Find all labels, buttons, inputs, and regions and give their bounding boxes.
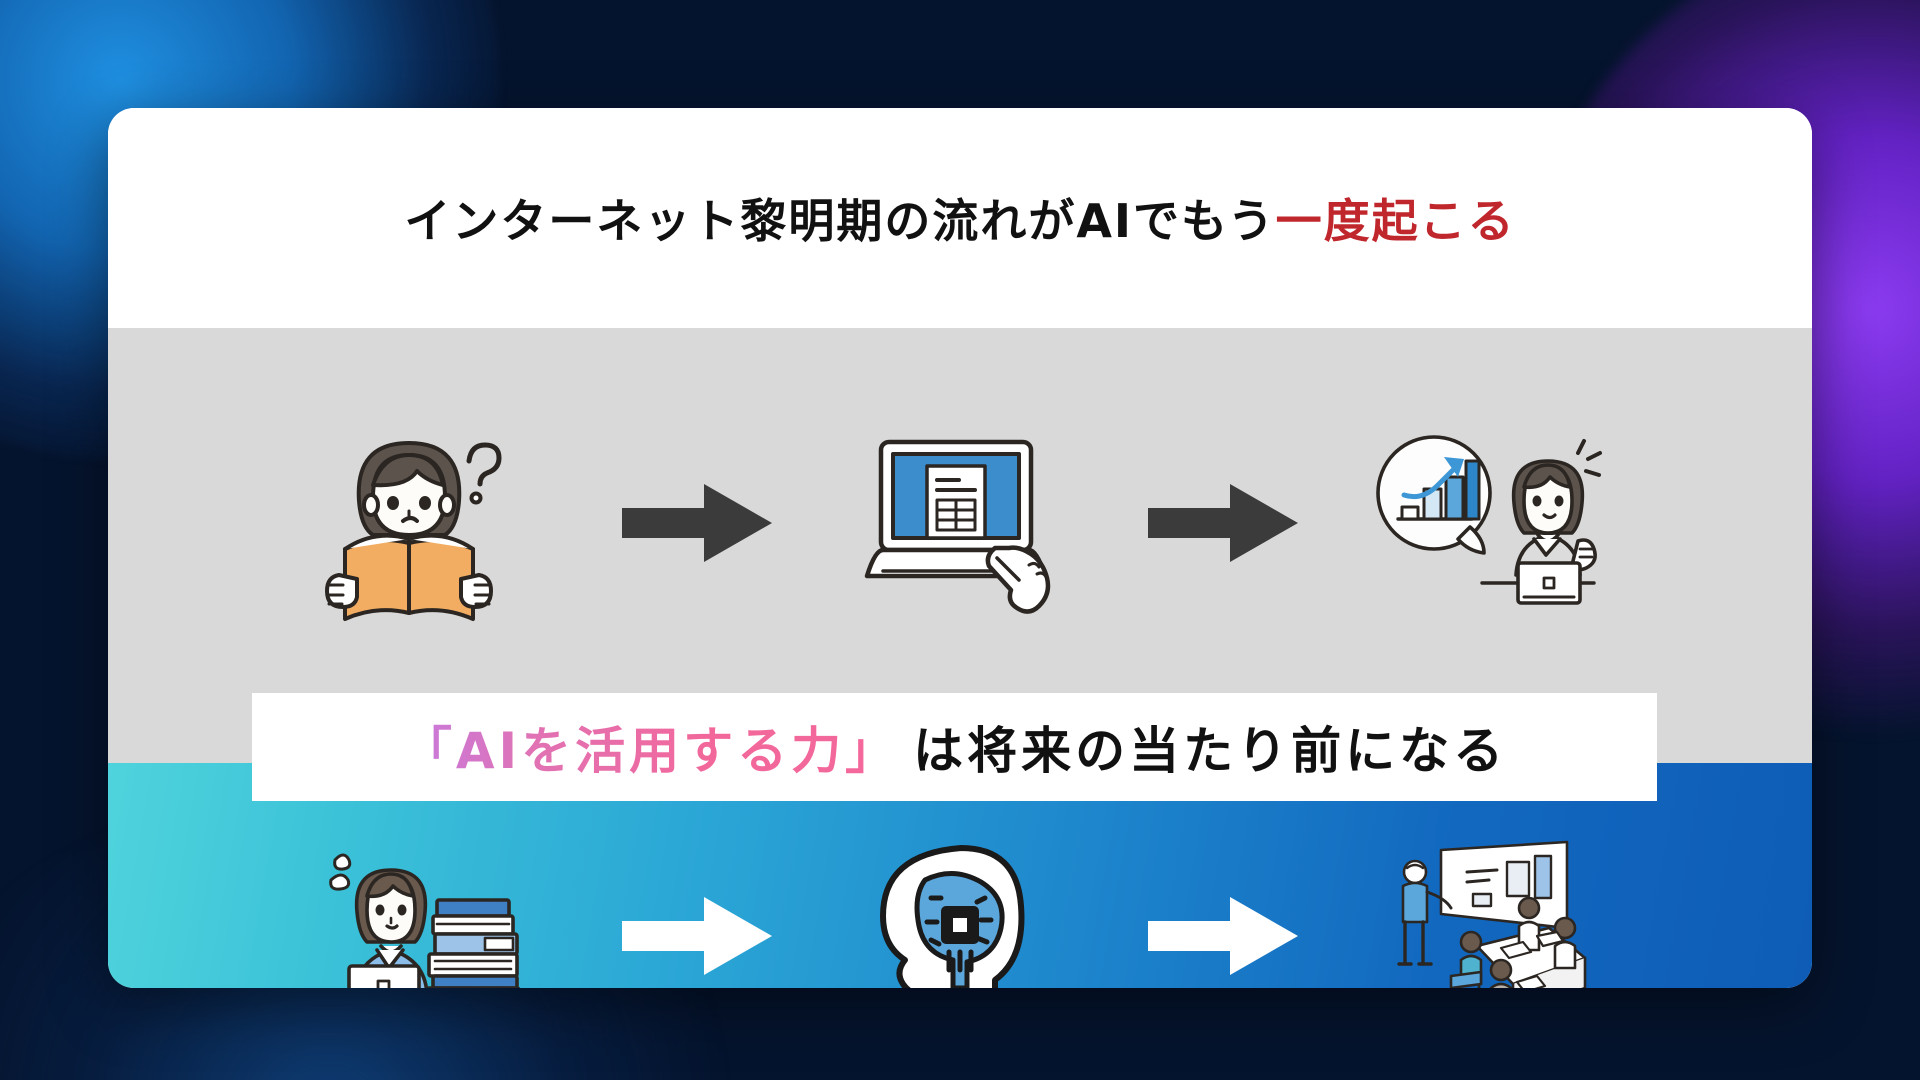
bottom-arrow-1	[617, 881, 777, 989]
icon-slot-woman-chart	[1361, 421, 1611, 626]
woman-laptop-book-stack-stressed-icon	[309, 838, 559, 988]
arrow-right-icon	[622, 478, 772, 568]
bottom-process-row	[108, 828, 1812, 988]
top-process-row	[108, 408, 1812, 638]
bottom-arrow-2	[1143, 881, 1303, 989]
icon-slot-laptop-click	[835, 421, 1085, 626]
icon-slot-classroom	[1361, 833, 1611, 988]
top-arrow-2	[1143, 468, 1303, 578]
mid-banner-rest-text: は将来の当たり前になる	[913, 711, 1507, 783]
arrow-right-icon	[1148, 478, 1298, 568]
brain-ai-chip-head-icon	[865, 836, 1055, 989]
slide-card: インターネット黎明期の流れがAIでもう一度起こる	[108, 108, 1812, 988]
person-reading-book-confused-icon	[319, 423, 549, 623]
woman-laptop-growth-chart-bubble-icon	[1366, 423, 1606, 623]
icon-slot-woman-books	[309, 833, 559, 988]
headline-plain-text: インターネット黎明期の流れがAIでもう	[404, 185, 1275, 251]
icon-slot-reading-person	[309, 421, 559, 626]
laptop-document-hand-click-icon	[845, 428, 1075, 618]
page-title: インターネット黎明期の流れがAIでもう一度起こる	[108, 108, 1812, 328]
arrow-right-icon	[622, 891, 772, 981]
arrow-right-icon	[1148, 891, 1298, 981]
headline-accent-text: 一度起こる	[1276, 185, 1516, 251]
icon-slot-ai-brain	[835, 833, 1085, 988]
mid-banner-quoted-text: 「AIを活用する力」	[402, 711, 913, 783]
top-arrow-1	[617, 468, 777, 578]
mid-banner: 「AIを活用する力」は将来の当たり前になる	[252, 693, 1657, 801]
classroom-presentation-icon	[1381, 836, 1591, 989]
